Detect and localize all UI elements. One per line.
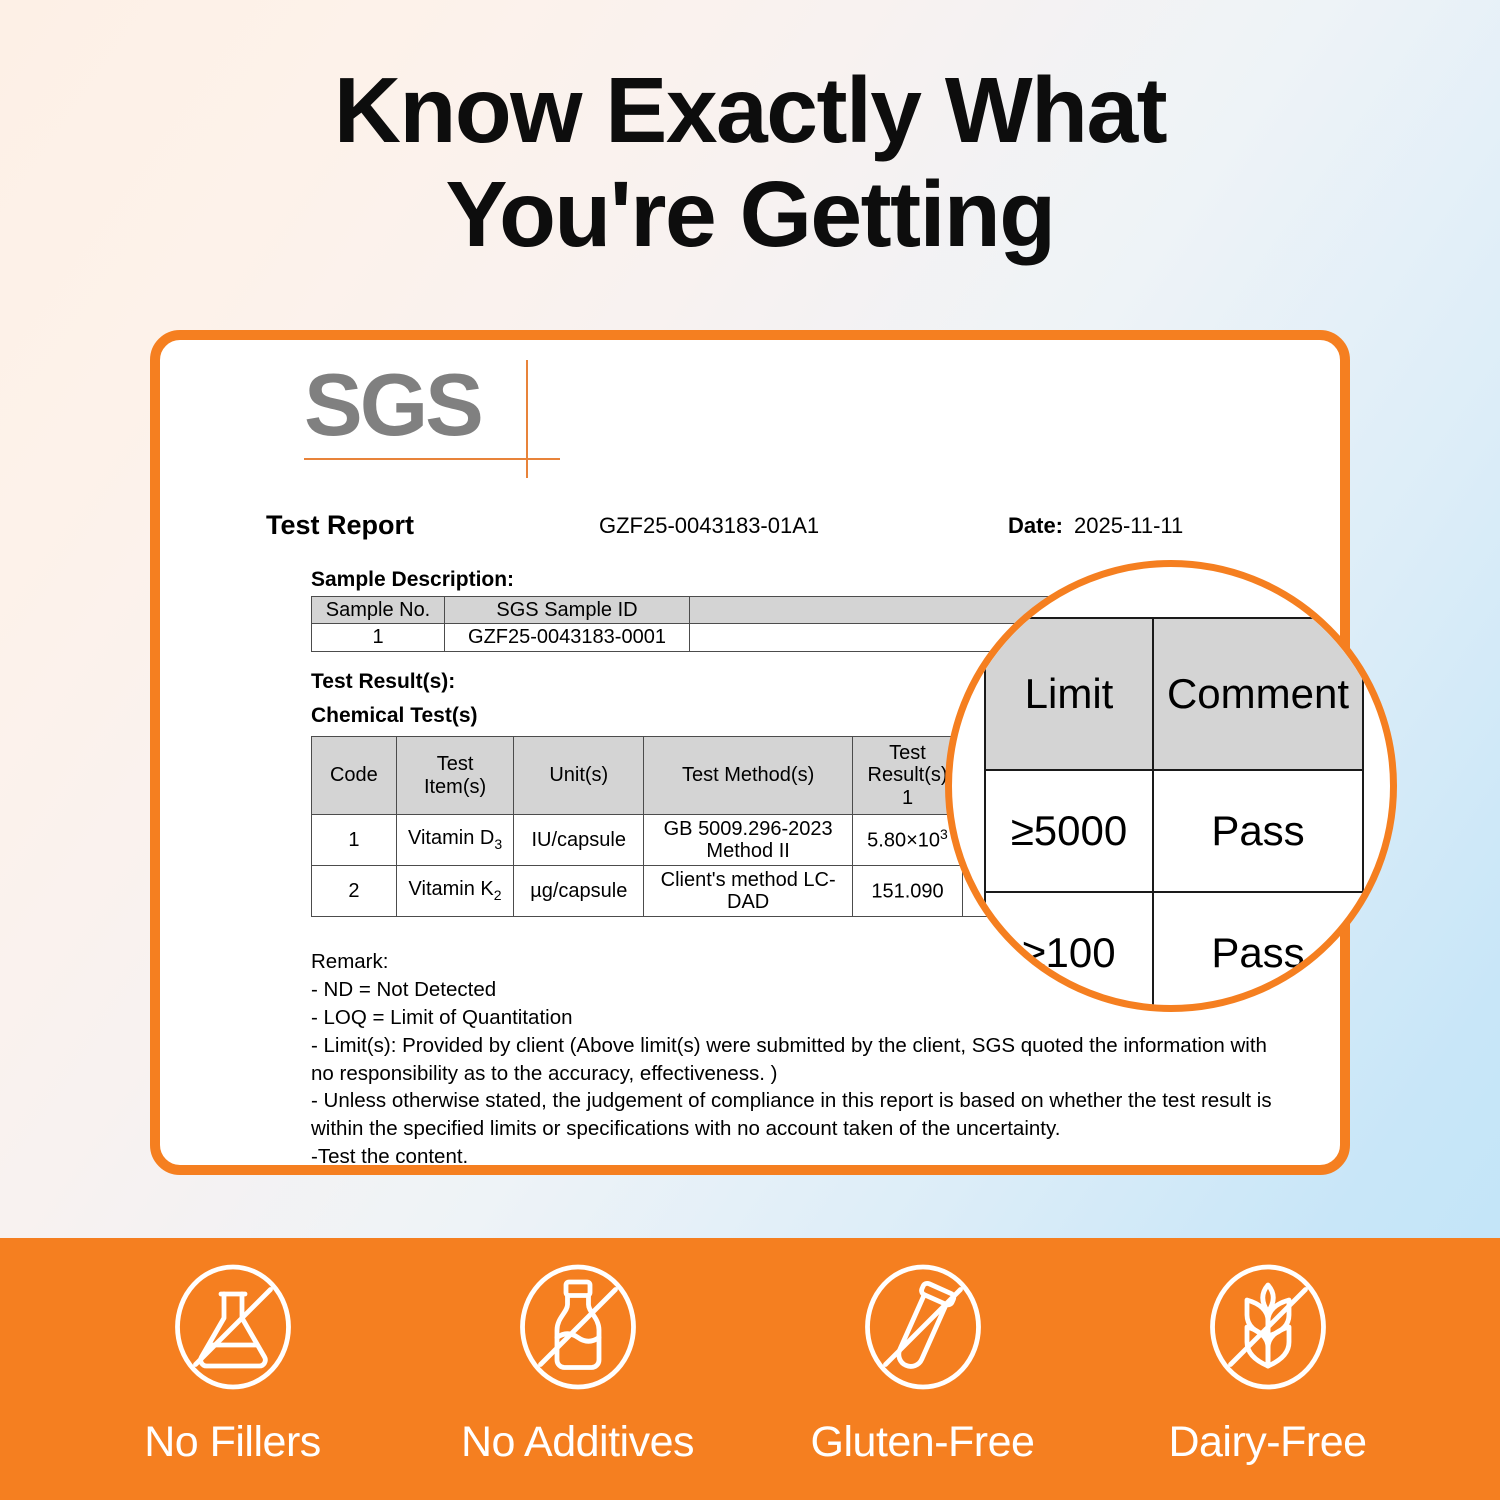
magnified-limit-cell: ≥5000 (985, 770, 1153, 892)
test-method-line-2: DAD (727, 891, 769, 913)
report-title-row: Test Report GZF25-0043183-01A1 Date: 202… (266, 510, 1276, 544)
test-item-subscript: 2 (494, 887, 502, 903)
sgs-logo-horizontal-rule (304, 458, 560, 460)
magnified-comment-cell: Pass (1153, 770, 1363, 892)
test-result-header-line-1: Test (889, 742, 926, 764)
badge-gluten-free: Gluten-Free (773, 1238, 1073, 1467)
no-wheat-icon (1193, 1252, 1343, 1402)
magnified-comment-header: Comment (1153, 618, 1363, 770)
sgs-sample-id-header: SGS Sample ID (445, 597, 690, 624)
test-result-base: 151.090 (871, 881, 943, 903)
test-result-header-line-2: Result(s) (868, 764, 948, 786)
badge-label: Gluten-Free (811, 1418, 1035, 1467)
unit-cell: IU/capsule (514, 815, 644, 866)
test-item-cell: Vitamin K2 (396, 866, 514, 917)
code-header: Code (312, 737, 397, 815)
magnifier-callout: Limit Comment ≥5000 Pass ≥100 Pass (945, 560, 1397, 1012)
remark-line: -Specification: 200mg/capsule (provided … (311, 1171, 1276, 1175)
no-test-tube-icon (848, 1252, 998, 1402)
claims-badge-band: No Fillers No Additives Glu (0, 1238, 1500, 1500)
report-number: GZF25-0043183-01A1 (599, 513, 819, 539)
test-method-cell: GB 5009.296-2023 Method II (644, 815, 853, 866)
sample-description-heading: Sample Description: (311, 568, 514, 592)
headline-line-1: Know Exactly What (334, 58, 1166, 162)
sample-no-header: Sample No. (312, 597, 445, 624)
magnified-limit-header: Limit (985, 618, 1153, 770)
report-date-value: 2025-11-11 (1074, 513, 1183, 539)
badge-dairy-free: Dairy-Free (1118, 1238, 1418, 1467)
sample-no-cell: 1 (312, 624, 445, 651)
magnified-comment-cell: Pass (1153, 892, 1363, 1012)
test-result-header-line-3: 1 (902, 787, 913, 809)
test-method-line-1: Client's method LC- (661, 869, 836, 891)
test-result-cell: 151.090 (853, 866, 963, 917)
badge-label: Dairy-Free (1168, 1418, 1366, 1467)
table-row: ≥5000 Pass (985, 770, 1363, 892)
unit-header: Unit(s) (514, 737, 644, 815)
test-method-header: Test Method(s) (644, 737, 853, 815)
test-item-name: Vitamin D (408, 827, 494, 849)
test-method-line-2: Method II (706, 840, 789, 862)
table-row: ≥100 Pass (985, 892, 1363, 1012)
sgs-sample-id-cell: GZF25-0043183-0001 (445, 624, 690, 651)
chemical-tests-heading: Chemical Test(s) (311, 704, 478, 728)
test-results-heading: Test Result(s): (311, 670, 455, 694)
sgs-logo-vertical-rule (526, 360, 528, 478)
unit-cell: µg/capsule (514, 866, 644, 917)
test-item-name: Vitamin K (409, 878, 494, 900)
remark-line: -Test the content. (311, 1143, 1276, 1171)
test-method-cell: Client's method LC- DAD (644, 866, 853, 917)
badge-no-fillers: No Fillers (83, 1238, 383, 1467)
test-result-cell: 5.80×103 (853, 815, 963, 866)
page-title: Know Exactly What You're Getting (0, 58, 1500, 266)
magnified-limit-comment-table: Limit Comment ≥5000 Pass ≥100 Pass (984, 617, 1364, 1012)
test-item-header-line-2: Item(s) (424, 776, 486, 798)
test-item-header-line-1: Test (437, 753, 474, 775)
test-method-line-1: GB 5009.296-2023 (664, 818, 833, 840)
test-result-base: 5.80×10 (867, 830, 940, 852)
code-cell: 2 (312, 866, 397, 917)
report-title: Test Report (266, 510, 414, 541)
badge-label: No Additives (461, 1418, 694, 1467)
sgs-logo-text: SGS (304, 358, 481, 452)
badge-no-additives: No Additives (428, 1238, 728, 1467)
remark-line: - Unless otherwise stated, the judgement… (311, 1087, 1276, 1143)
remark-line: - Limit(s): Provided by client (Above li… (311, 1032, 1276, 1088)
no-flask-icon (158, 1252, 308, 1402)
test-item-header: Test Item(s) (396, 737, 514, 815)
test-result-exponent: 3 (940, 826, 948, 842)
badge-label: No Fillers (144, 1418, 321, 1467)
code-cell: 1 (312, 815, 397, 866)
sgs-logo: SGS (304, 358, 564, 478)
report-date-label: Date: (1008, 513, 1063, 539)
test-item-subscript: 3 (494, 836, 502, 852)
no-bottle-icon (503, 1252, 653, 1402)
test-item-cell: Vitamin D3 (396, 815, 514, 866)
magnified-limit-cell: ≥100 (985, 892, 1153, 1012)
headline-line-2: You're Getting (0, 162, 1500, 266)
table-header-row: Limit Comment (985, 618, 1363, 770)
